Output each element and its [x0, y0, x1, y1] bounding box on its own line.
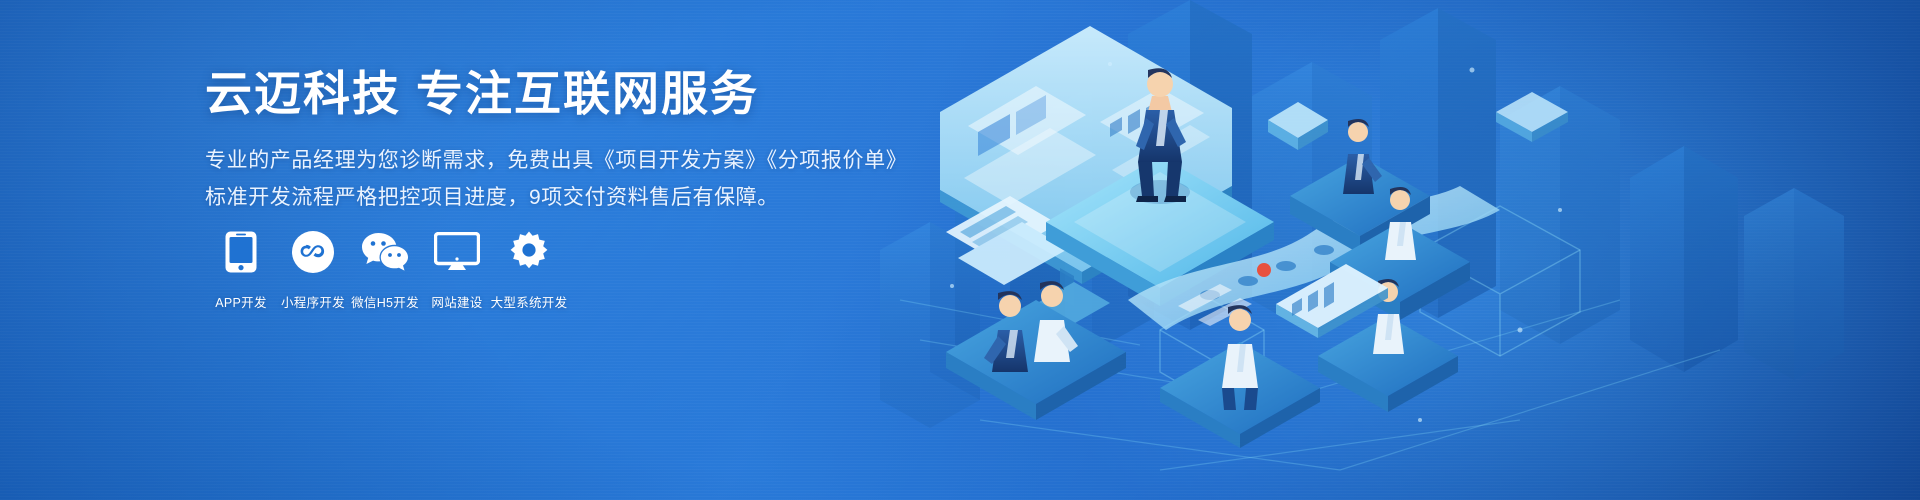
- page-title: 云迈科技 专注互联网服务: [205, 66, 925, 121]
- service-item-app[interactable]: APP开发: [205, 228, 277, 311]
- isometric-illustration: [860, 0, 1920, 500]
- gear-icon: [505, 228, 553, 276]
- service-label-website: 网站建设: [431, 292, 482, 311]
- service-item-system[interactable]: 大型系统开发: [493, 228, 565, 311]
- hero-banner: 云迈科技 专注互联网服务 专业的产品经理为您诊断需求，免费出具《项目开发方案》《…: [0, 0, 1920, 500]
- service-list: APP开发 小程序开发 微信: [205, 228, 565, 311]
- mini-program-icon: [289, 228, 337, 276]
- service-item-miniprogram[interactable]: 小程序开发: [277, 228, 349, 311]
- mobile-phone-icon: [217, 228, 265, 276]
- service-label-app: APP开发: [215, 292, 267, 311]
- banner-subtitle: 专业的产品经理为您诊断需求，免费出具《项目开发方案》《分项报价单》 标准开发流程…: [205, 143, 925, 217]
- service-label-wechat: 微信H5开发: [351, 292, 419, 311]
- wechat-icon: [361, 228, 409, 276]
- subtitle-line-2: 标准开发流程严格把控项目进度，9项交付资料售后有保障。: [205, 180, 925, 217]
- service-item-website[interactable]: 网站建设: [421, 228, 493, 311]
- subtitle-line-1: 专业的产品经理为您诊断需求，免费出具《项目开发方案》《分项报价单》: [205, 143, 925, 180]
- monitor-icon: [433, 228, 481, 276]
- service-item-wechat[interactable]: 微信H5开发: [349, 228, 421, 311]
- banner-copy: 云迈科技 专注互联网服务 专业的产品经理为您诊断需求，免费出具《项目开发方案》《…: [205, 66, 925, 217]
- service-label-miniprogram: 小程序开发: [281, 292, 345, 311]
- service-label-system: 大型系统开发: [491, 292, 568, 311]
